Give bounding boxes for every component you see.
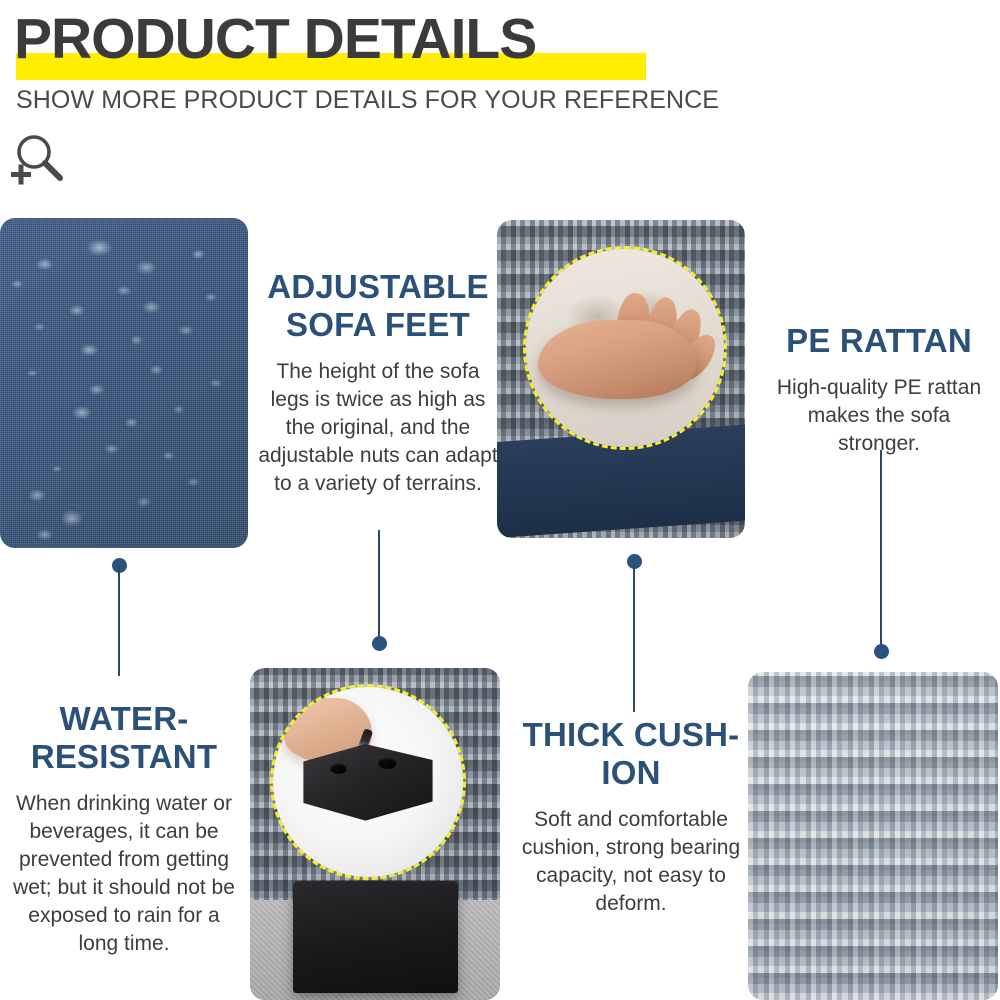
feature-heading-pe-rattan: PE RATTAN — [765, 322, 993, 360]
sofa-foot-base — [293, 881, 458, 994]
connector-line-adjustable-sofa-feet — [378, 530, 380, 638]
page-title: PRODUCT DETAILS — [14, 8, 536, 70]
header-title-block: PRODUCT DETAILS — [14, 8, 536, 70]
image-water-resistant-fabric — [0, 218, 248, 548]
feature-body-water-resistant: When drinking water or beverages, it can… — [8, 790, 240, 958]
image-adjustable-sofa-feet — [250, 668, 500, 1000]
feature-body-pe-rattan: High-quality PE rattan makes the sofa st… — [765, 374, 993, 458]
highlight-circle-sofa-foot — [270, 684, 466, 880]
feature-body-adjustable-sofa-feet: The height of the sofa legs is twice as … — [258, 358, 498, 498]
connector-line-water-resistant — [118, 566, 120, 676]
magnifier-plus-icon — [8, 130, 70, 192]
bolt-hole-left — [330, 763, 347, 774]
product-details-infographic: PRODUCT DETAILS SHOW MORE PRODUCT DETAIL… — [0, 0, 1000, 1000]
page-subtitle: SHOW MORE PRODUCT DETAILS FOR YOUR REFER… — [16, 85, 719, 115]
feature-block-water-resistant: WATER- RESISTANT When drinking water or … — [8, 700, 240, 958]
feature-heading-line2: SOFA FEET — [258, 306, 498, 344]
highlight-circle-cushion — [523, 246, 727, 450]
feature-heading-line2-water: RESISTANT — [8, 738, 240, 776]
bolt-hole-right — [378, 757, 397, 769]
connector-line-pe-rattan — [880, 450, 882, 646]
feature-heading-line1-water: WATER- — [8, 700, 240, 738]
image-pe-rattan-weave — [748, 672, 998, 1000]
feature-block-pe-rattan: PE RATTAN High-quality PE rattan makes t… — [765, 322, 993, 458]
feature-block-adjustable-sofa-feet: ADJUSTABLE SOFA FEET The height of the s… — [258, 268, 498, 498]
hand-pressing-cushion — [538, 320, 696, 399]
image-thick-cushion — [497, 220, 745, 538]
connector-dot-adjustable-sofa-feet — [372, 636, 387, 651]
feature-heading-line1: ADJUSTABLE — [258, 268, 498, 306]
highlight-circle-inner-sofa-foot — [273, 687, 463, 877]
feature-heading-line2-cushion: ION — [518, 754, 744, 792]
feature-block-thick-cushion: THICK CUSH- ION Soft and comfortable cus… — [518, 716, 744, 918]
connector-line-thick-cushion — [633, 562, 635, 712]
feature-body-thick-cushion: Soft and comfortable cushion, strong bea… — [518, 806, 744, 918]
connector-dot-pe-rattan — [874, 644, 889, 659]
cushion-surface — [526, 249, 724, 447]
feature-heading-line1-cushion: THICK CUSH- — [518, 716, 744, 754]
